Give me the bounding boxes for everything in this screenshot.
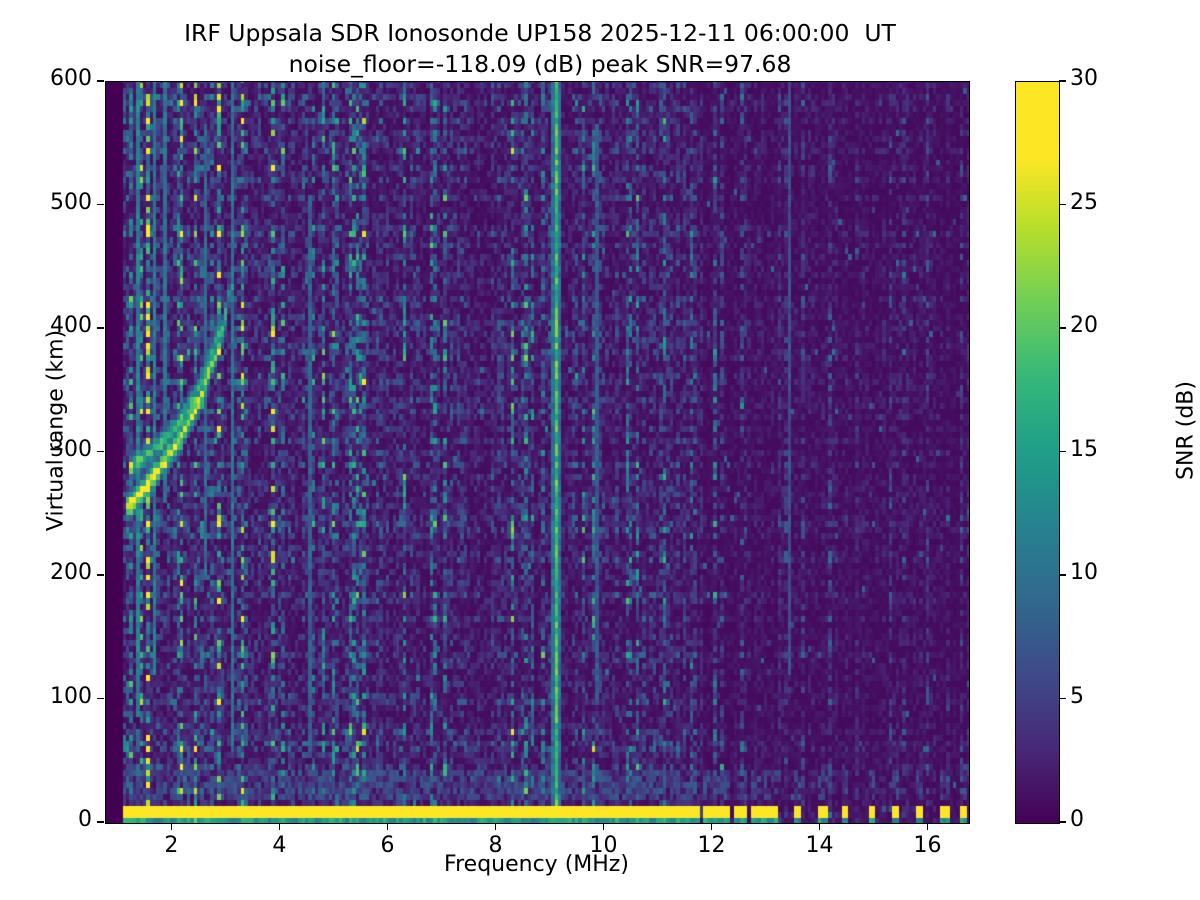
y-tick-mark [97, 80, 104, 81]
y-tick-label: 600 [0, 66, 92, 91]
y-tick-mark [97, 451, 104, 452]
y-tick-mark [97, 698, 104, 699]
y-tick-label: 400 [0, 313, 92, 338]
colorbar-label: SNR (dB) [1174, 231, 1199, 631]
title-line-2: noise_floor=-118.09 (dB) peak SNR=97.68 [0, 49, 1080, 80]
x-tick-mark [711, 823, 712, 830]
colorbar-tick-label: 10 [1070, 560, 1098, 585]
colorbar[interactable] [1015, 81, 1060, 824]
colorbar-gradient [1016, 82, 1059, 823]
x-tick-mark [819, 823, 820, 830]
ionogram-heatmap[interactable] [106, 82, 969, 823]
x-tick-mark [495, 823, 496, 830]
x-tick-mark [603, 823, 604, 830]
x-tick-mark [927, 823, 928, 830]
title-line-1: IRF Uppsala SDR Ionosonde UP158 2025-12-… [0, 18, 1080, 49]
colorbar-tick-mark [1059, 204, 1066, 205]
y-tick-label: 100 [0, 684, 92, 709]
x-tick-label: 10 [563, 833, 643, 858]
ionogram-plot-area[interactable] [105, 81, 970, 824]
x-tick-mark [171, 823, 172, 830]
ionogram-figure: IRF Uppsala SDR Ionosonde UP158 2025-12-… [0, 0, 1200, 900]
colorbar-tick-label: 20 [1070, 313, 1098, 338]
y-tick-label: 200 [0, 560, 92, 585]
x-tick-label: 6 [347, 833, 427, 858]
y-tick-mark [97, 821, 104, 822]
x-tick-mark [279, 823, 280, 830]
page-title: IRF Uppsala SDR Ionosonde UP158 2025-12-… [0, 18, 1080, 80]
x-tick-label: 12 [671, 833, 751, 858]
x-tick-label: 4 [239, 833, 319, 858]
colorbar-tick-label: 15 [1070, 437, 1098, 462]
y-tick-mark [97, 204, 104, 205]
colorbar-tick-mark [1059, 698, 1066, 699]
y-tick-mark [97, 574, 104, 575]
colorbar-tick-mark [1059, 451, 1066, 452]
colorbar-tick-label: 25 [1070, 190, 1098, 215]
colorbar-tick-mark [1059, 327, 1066, 328]
colorbar-tick-mark [1059, 821, 1066, 822]
colorbar-tick-mark [1059, 80, 1066, 81]
colorbar-tick-mark [1059, 574, 1066, 575]
x-tick-mark [387, 823, 388, 830]
y-tick-mark [97, 327, 104, 328]
x-tick-label: 8 [455, 833, 535, 858]
colorbar-tick-label: 5 [1070, 684, 1084, 709]
y-tick-label: 500 [0, 190, 92, 215]
x-tick-label: 2 [131, 833, 211, 858]
y-tick-label: 0 [0, 807, 92, 832]
colorbar-tick-label: 30 [1070, 66, 1098, 91]
colorbar-tick-label: 0 [1070, 807, 1084, 832]
x-tick-label: 14 [779, 833, 859, 858]
x-tick-label: 16 [887, 833, 967, 858]
y-tick-label: 300 [0, 437, 92, 462]
